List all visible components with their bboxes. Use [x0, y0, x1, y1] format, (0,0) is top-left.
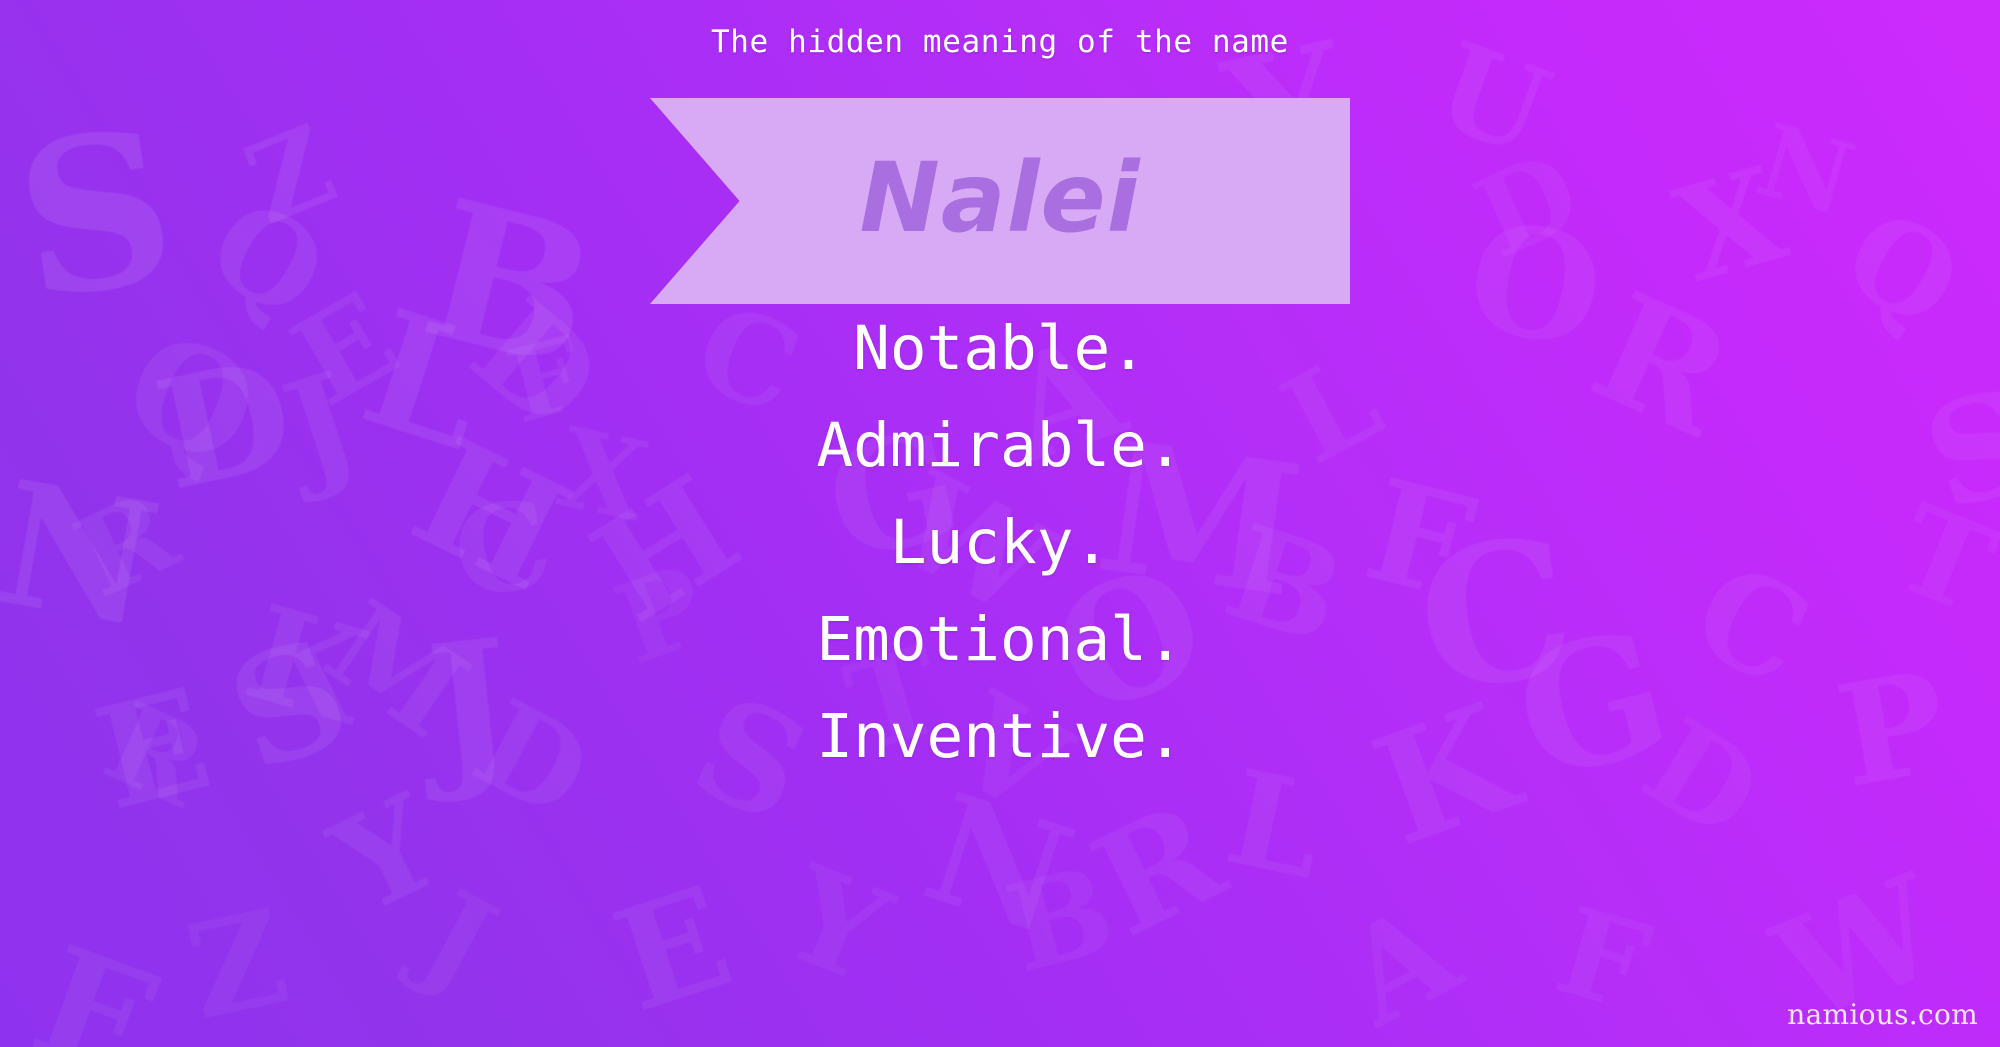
trait-line: Emotional. — [0, 591, 2000, 688]
trait-line: Inventive. — [0, 688, 2000, 785]
background-letter: N — [910, 772, 1087, 957]
background-letter: B — [997, 850, 1124, 991]
page-title: The hidden meaning of the name — [0, 24, 2000, 60]
background-letter: X — [1664, 149, 1797, 302]
background-letter: S — [6, 100, 185, 329]
trait-line: Lucky. — [0, 494, 2000, 591]
site-watermark: namious.com — [1787, 998, 1978, 1031]
name-meaning-graphic: SBZQDLEDFNRQJHCKSMERJDYXHCGWAMOBLFCRXQYU… — [0, 0, 2000, 1047]
name-ribbon-banner: Nalei — [650, 98, 1350, 304]
background-letter: E — [601, 867, 746, 1033]
background-letter: J — [405, 874, 511, 1007]
trait-line: Notable. — [0, 300, 2000, 397]
background-letter: A — [1325, 884, 1475, 1046]
background-letter: Z — [232, 109, 348, 241]
background-letter: N — [1748, 109, 1863, 230]
name-text: Nalei — [650, 98, 1350, 304]
background-letter: F — [1545, 891, 1660, 1030]
background-letter: Z — [178, 892, 298, 1039]
background-letter: D — [1462, 135, 1594, 274]
background-letter: R — [1075, 782, 1241, 959]
background-letter: Y — [769, 847, 904, 1002]
background-letter: Y — [316, 776, 456, 934]
trait-line: Admirable. — [0, 397, 2000, 494]
trait-list: Notable.Admirable.Lucky.Emotional.Invent… — [0, 300, 2000, 785]
background-letter: E — [18, 925, 177, 1047]
